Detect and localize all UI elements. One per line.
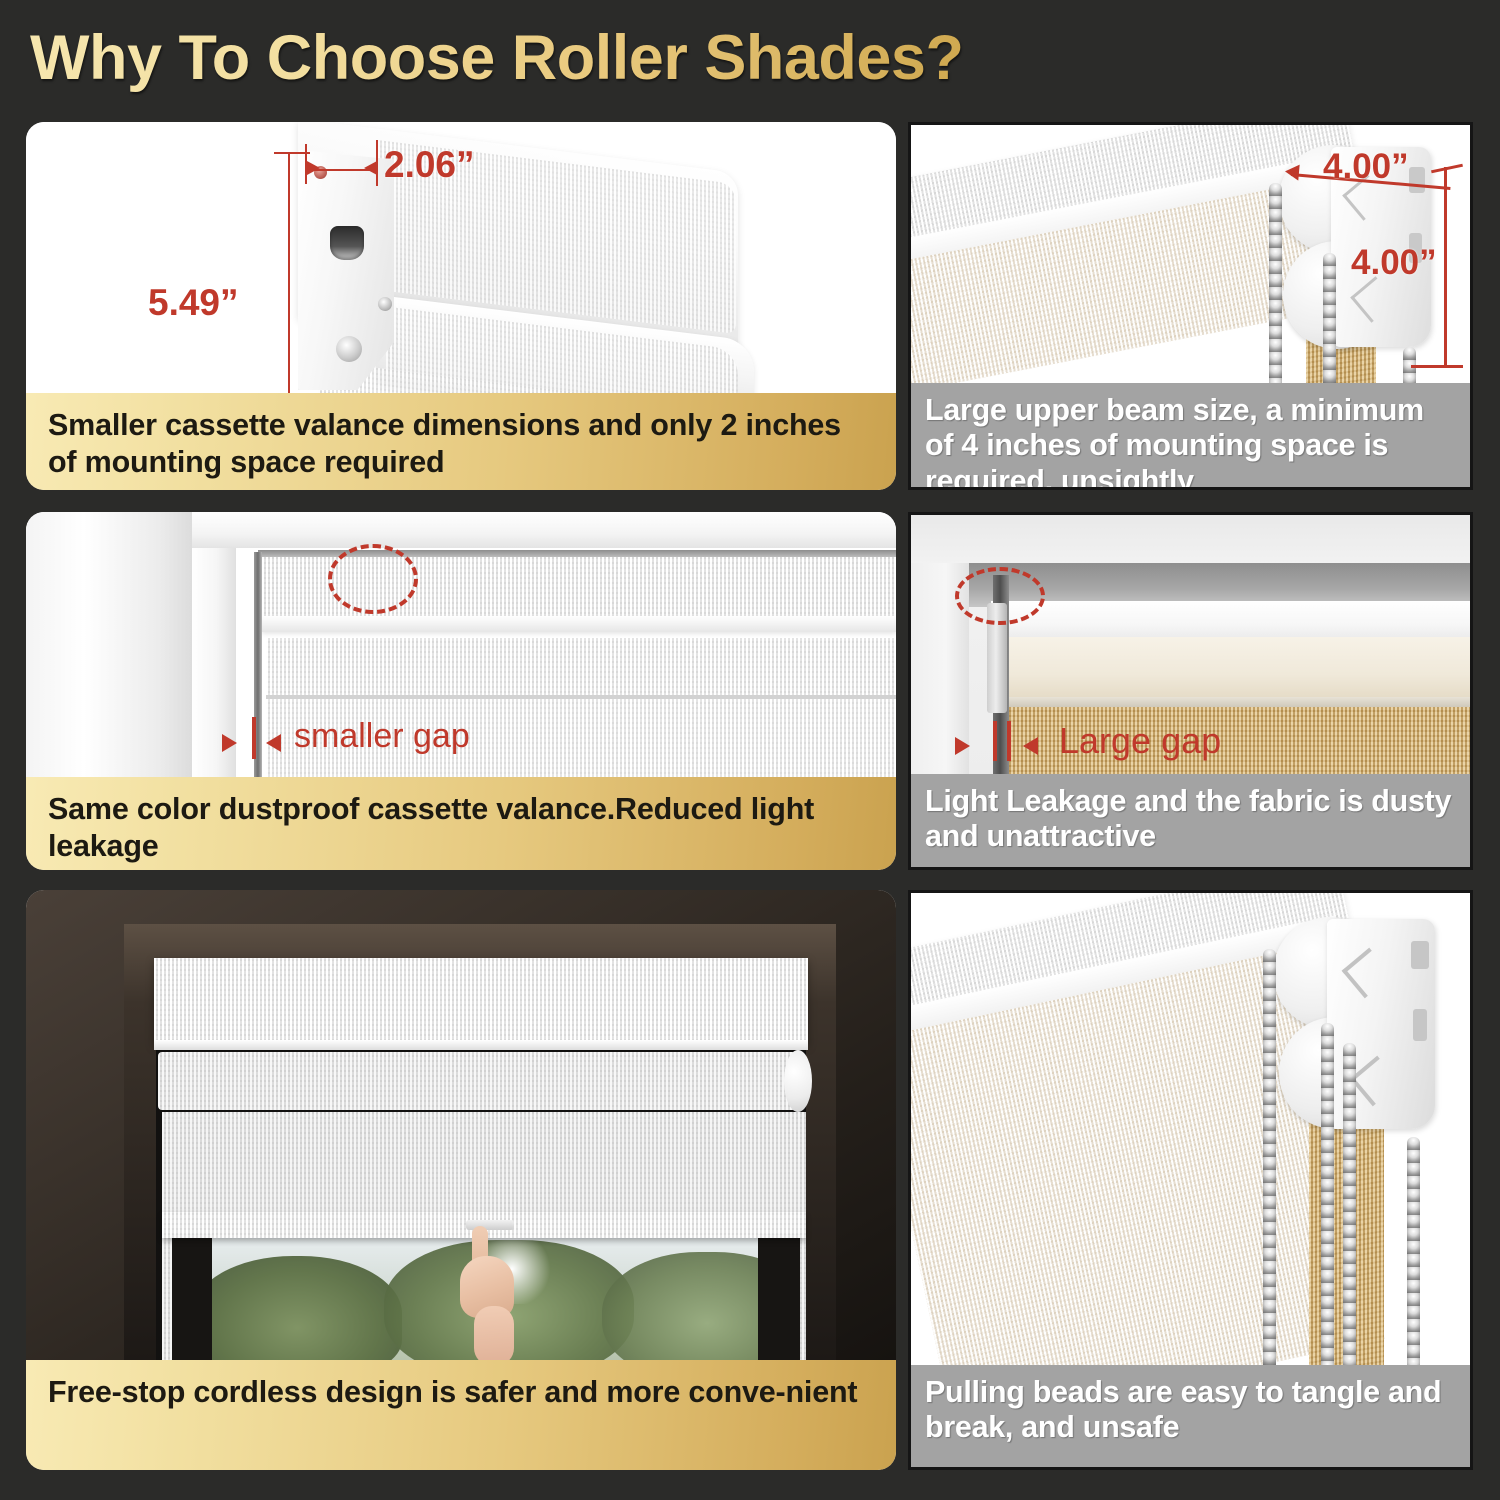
gap-tick: [252, 717, 256, 759]
cassette-valance-photo: 2.06” 5.49”: [26, 122, 896, 397]
infographic-root: Why To Choose Roller Shades?: [0, 0, 1500, 1500]
cassette-screw-lower: [336, 336, 362, 362]
panel-good-cassette-size: 2.06” 5.49” Smaller cassette valance dim…: [26, 122, 896, 490]
roll-tube-end: [784, 1050, 812, 1112]
large-gap-photo: Large gap: [911, 515, 1470, 780]
caption-text: Smaller cassette valance dimensions and …: [48, 407, 874, 481]
panel-good-cordless: Free-stop cordless design is safer and m…: [26, 890, 896, 1470]
panel-good-small-gap: smaller gap Same color dustproof cassett…: [26, 512, 896, 870]
bead-chain-2: [1323, 253, 1336, 390]
caption-good-cordless: Free-stop cordless design is safer and m…: [26, 1360, 896, 1470]
dim-label-beam-height: 4.00”: [1351, 243, 1437, 283]
bead-chain-3: [1343, 1043, 1356, 1371]
pull-beads-photo: [911, 893, 1470, 1371]
dim-label-height: 5.49”: [148, 282, 239, 324]
highlight-ellipse: [328, 544, 418, 614]
dim-tick-height-top: [274, 152, 310, 154]
caption-text: Light Leakage and the fabric is dusty an…: [925, 784, 1456, 855]
caption-bad-beam-size: Large upper beam size, a minimum of 4 in…: [911, 383, 1470, 487]
bead-chain-1: [1263, 949, 1276, 1371]
dim-label-beam-width: 4.00”: [1323, 147, 1409, 187]
valance-bottom-lip: [262, 616, 896, 632]
dim-arrow-width-left: [364, 161, 377, 175]
gap-arrow-right: [955, 737, 970, 755]
small-gap-photo: smaller gap: [26, 512, 896, 777]
cordless-valance: [154, 958, 808, 1044]
beam-cream-edge: [999, 697, 1470, 707]
panel-bad-beam-size: 4.00” 4.00” Large upper beam size, a min…: [908, 122, 1473, 490]
highlight-ellipse: [955, 567, 1045, 625]
dim-label-width: 2.06”: [384, 144, 475, 186]
cordless-window-photo: [26, 890, 896, 1360]
dim-line-beam-height: [1444, 167, 1447, 367]
window-jamb-left: [26, 512, 192, 777]
cassette-screw-mid: [378, 297, 392, 311]
caption-text: Same color dustproof cassette valance.Re…: [48, 791, 874, 865]
valance-lip: [154, 1040, 808, 1050]
panel-bad-pull-beads: Pulling beads are easy to tangle and bre…: [908, 890, 1473, 1470]
caption-text: Free-stop cordless design is safer and m…: [48, 1374, 857, 1411]
dim-arrow-beam-width: [1284, 163, 1299, 180]
caption-good-small-gap: Same color dustproof cassette valance.Re…: [26, 777, 896, 870]
bead-chain-2: [1321, 1023, 1334, 1371]
bead-chain-4: [1407, 1137, 1420, 1371]
wall-band: [911, 515, 1470, 565]
gap-arrow-left: [1023, 737, 1038, 755]
large-beam-photo: 4.00” 4.00”: [911, 125, 1470, 390]
gap-tick-right: [1007, 721, 1011, 761]
caption-good-cassette-size: Smaller cassette valance dimensions and …: [26, 393, 896, 490]
gap-label: smaller gap: [294, 717, 470, 756]
dim-arrow-width-right: [307, 161, 320, 175]
caption-bad-large-gap: Light Leakage and the fabric is dusty an…: [911, 774, 1470, 867]
dim-line-height: [288, 152, 290, 397]
gap-label: Large gap: [1059, 720, 1221, 762]
gap-arrow-left: [266, 734, 281, 752]
gap-arrow-right: [222, 734, 237, 752]
hand-icon: [458, 1226, 522, 1360]
shade-fabric-seam: [266, 695, 896, 699]
caption-text: Large upper beam size, a minimum of 4 in…: [925, 393, 1456, 490]
cassette-lock-slot: [330, 226, 364, 260]
shade-fabric-upper: [266, 638, 896, 696]
cordless-roll-tube: [158, 1052, 808, 1110]
caption-text: Pulling beads are easy to tangle and bre…: [925, 1375, 1456, 1446]
bead-chain-1: [1269, 183, 1282, 390]
page-title: Why To Choose Roller Shades?: [30, 22, 963, 94]
dim-tick-beam-bottom: [1411, 365, 1463, 368]
panel-bad-large-gap: Large gap Light Leakage and the fabric i…: [908, 512, 1473, 870]
caption-bad-pull-beads: Pulling beads are easy to tangle and bre…: [911, 1365, 1470, 1467]
window-head-trim: [192, 512, 896, 548]
gap-tick-left: [993, 721, 997, 761]
beam-cream-band: [999, 637, 1470, 699]
beads-bracket: [1273, 917, 1453, 1147]
